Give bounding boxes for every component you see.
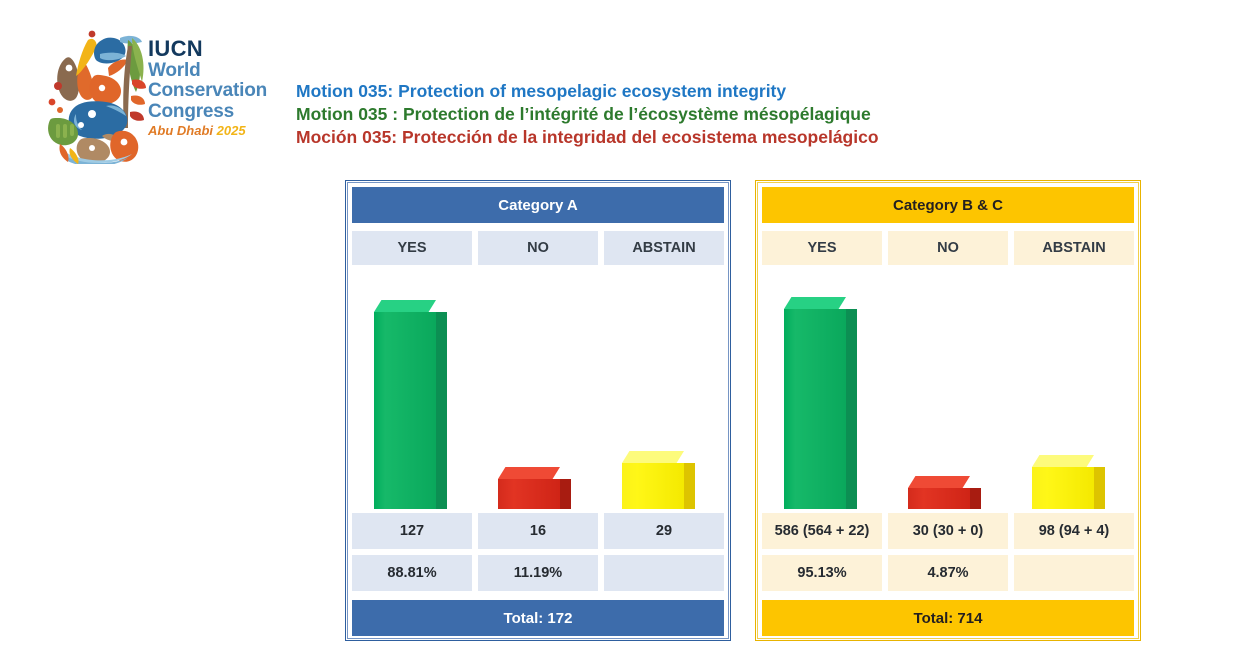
value-abstain: 29 bbox=[604, 513, 724, 549]
bar-column-no bbox=[886, 271, 1010, 509]
category-bc-bar-chart bbox=[762, 271, 1134, 509]
percent-no: 4.87% bbox=[888, 555, 1008, 591]
category-a-percent-row: 88.81% 11.19% bbox=[352, 555, 724, 591]
column-header-abstain: ABSTAIN bbox=[1014, 231, 1134, 265]
bar-yes bbox=[784, 297, 846, 509]
wordmark-conservation: Conservation bbox=[148, 81, 298, 102]
bar-abstain bbox=[1032, 455, 1094, 509]
motion-title-english: Motion 035: Protection of mesopelagic ec… bbox=[296, 80, 879, 103]
iucn-congress-emblem-icon bbox=[36, 24, 148, 164]
motion-title-french: Motion 035 : Protection de l’intégrité d… bbox=[296, 103, 879, 126]
bar-no bbox=[498, 467, 560, 509]
value-no: 30 (30 + 0) bbox=[888, 513, 1008, 549]
wordmark-congress: Congress bbox=[148, 102, 298, 123]
motion-titles: Motion 035: Protection of mesopelagic ec… bbox=[296, 80, 879, 149]
wordmark-year: 2025 bbox=[217, 123, 246, 138]
column-header-no: NO bbox=[888, 231, 1008, 265]
wordmark-location: Abu Dhabi bbox=[148, 123, 213, 138]
category-a-total: Total: 172 bbox=[352, 600, 724, 636]
percent-abstain bbox=[1014, 555, 1134, 591]
column-header-yes: YES bbox=[762, 231, 882, 265]
bar-no bbox=[908, 476, 970, 509]
results-panel-category-bc: Category B & C YES NO ABSTAIN bbox=[755, 180, 1141, 641]
value-yes: 127 bbox=[352, 513, 472, 549]
iucn-wordmark: IUCN World Conservation Congress Abu Dha… bbox=[148, 38, 298, 140]
bar-yes bbox=[374, 300, 436, 509]
wordmark-world: World bbox=[148, 61, 298, 82]
percent-abstain bbox=[604, 555, 724, 591]
bar-column-abstain bbox=[1010, 271, 1134, 509]
category-a-value-row: 127 16 29 bbox=[352, 513, 724, 549]
column-header-yes: YES bbox=[352, 231, 472, 265]
category-a-bar-chart bbox=[352, 271, 724, 509]
wordmark-location-year: Abu Dhabi 2025 bbox=[148, 123, 298, 140]
bar-abstain bbox=[622, 451, 684, 509]
bar-column-no bbox=[476, 271, 600, 509]
motion-title-spanish: Moción 035: Protección de la integridad … bbox=[296, 126, 879, 149]
category-bc-total: Total: 714 bbox=[762, 600, 1134, 636]
page-header: IUCN World Conservation Congress Abu Dha… bbox=[0, 0, 1260, 175]
bar-column-abstain bbox=[600, 271, 724, 509]
category-bc-percent-row: 95.13% 4.87% bbox=[762, 555, 1134, 591]
category-a-title: Category A bbox=[352, 187, 724, 223]
value-yes: 586 (564 + 22) bbox=[762, 513, 882, 549]
category-bc-column-headers: YES NO ABSTAIN bbox=[762, 231, 1134, 265]
category-a-column-headers: YES NO ABSTAIN bbox=[352, 231, 724, 265]
value-abstain: 98 (94 + 4) bbox=[1014, 513, 1134, 549]
percent-yes: 88.81% bbox=[352, 555, 472, 591]
column-header-no: NO bbox=[478, 231, 598, 265]
value-no: 16 bbox=[478, 513, 598, 549]
percent-yes: 95.13% bbox=[762, 555, 882, 591]
column-header-abstain: ABSTAIN bbox=[604, 231, 724, 265]
bar-column-yes bbox=[762, 271, 886, 509]
category-bc-value-row: 586 (564 + 22) 30 (30 + 0) 98 (94 + 4) bbox=[762, 513, 1134, 549]
category-bc-title: Category B & C bbox=[762, 187, 1134, 223]
bar-column-yes bbox=[352, 271, 476, 509]
percent-no: 11.19% bbox=[478, 555, 598, 591]
wordmark-iucn: IUCN bbox=[148, 38, 298, 61]
results-panel-category-a: Category A YES NO ABSTAIN bbox=[345, 180, 731, 641]
